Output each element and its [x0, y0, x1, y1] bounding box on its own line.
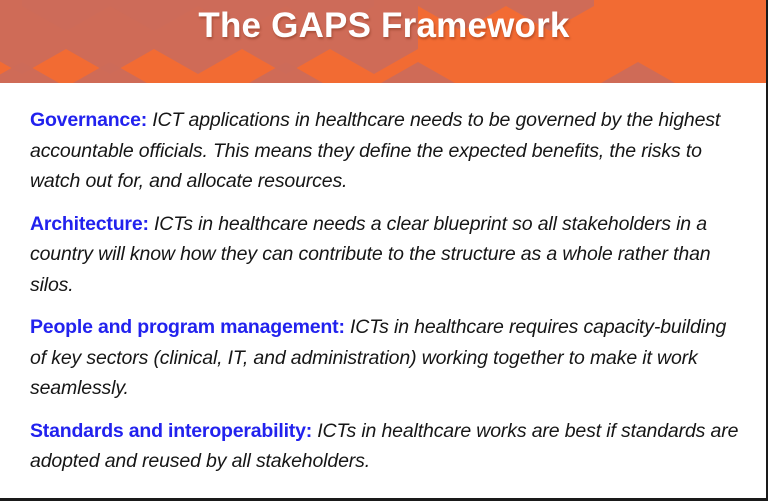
framework-item-standards-and-interoperability: Standards and interoperability: ICTs in … — [30, 416, 744, 477]
framework-item-lead: Governance: — [30, 109, 147, 131]
framework-item-architecture: Architecture: ICTs in healthcare needs a… — [30, 209, 744, 301]
framework-item-governance: Governance: ICT applications in healthca… — [30, 105, 744, 197]
framework-item-lead: Architecture: — [30, 213, 149, 235]
framework-item-lead: People and program management: — [30, 316, 345, 338]
framework-item-people-and-program-management: People and program management: ICTs in h… — [30, 312, 744, 404]
slide-header-banner: The GAPS Framework — [0, 0, 768, 83]
slide-container: The GAPS Framework Governance: ICT appli… — [0, 0, 768, 501]
slide-body: Governance: ICT applications in healthca… — [0, 83, 768, 498]
page-title: The GAPS Framework — [0, 6, 768, 46]
framework-item-lead: Standards and interoperability: — [30, 420, 312, 442]
